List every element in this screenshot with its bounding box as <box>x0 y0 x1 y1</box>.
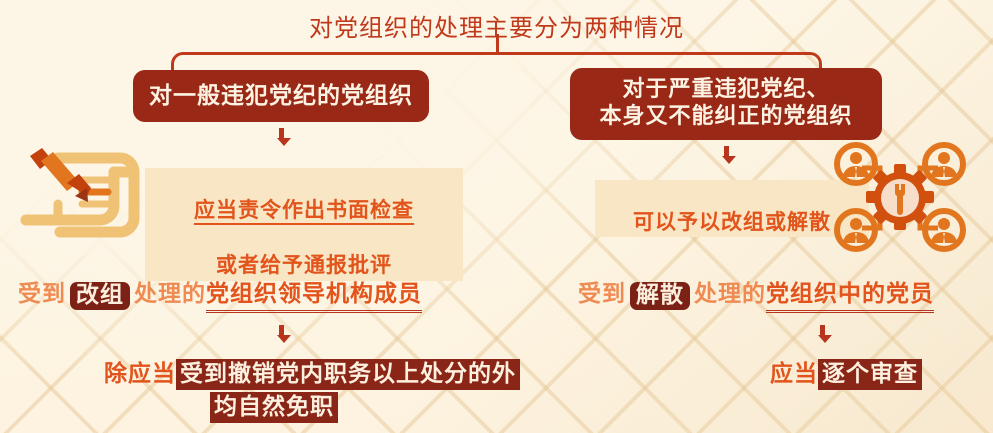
subject-left-middle: 处理的 <box>134 281 206 307</box>
subject-right-badge: 解散 <box>630 282 690 310</box>
result-left-emphasis-line2: 均自然免职 <box>210 392 338 423</box>
measure-text-left: 应当责令作出书面检查 或者给予通报批评 <box>145 168 463 281</box>
condition-box-right: 对于严重违犯党纪、 本身又不能纠正的党组织 <box>570 68 882 140</box>
subject-row-left: 受到改组处理的党组织领导机构成员 <box>18 274 422 309</box>
arrow-down-right-2-icon <box>818 325 827 343</box>
result-row-right: 应当逐个审查 <box>770 358 922 391</box>
infographic-canvas: 对党组织的处理主要分为两种情况 对一般违犯党纪的党组织 对于严重违犯党纪、 本身… <box>0 0 993 433</box>
subject-right-middle: 处理的 <box>694 281 766 307</box>
subject-row-right: 受到解散处理的党组织中的党员 <box>578 274 934 309</box>
arrow-down-left-2-icon <box>277 325 286 343</box>
measure-text-left-line1: 应当责令作出书面检查 <box>194 198 414 225</box>
scroll-pencil-icon <box>14 142 146 248</box>
measure-text-right-line1: 可以予以改组或解散 <box>633 210 831 234</box>
arrow-down-left-1-icon <box>277 128 286 146</box>
result-right-emphasis-line1: 逐个审查 <box>818 359 922 390</box>
gear-people-network-icon <box>832 142 968 252</box>
content-layer: 对党组织的处理主要分为两种情况 对一般违犯党纪的党组织 对于严重违犯党纪、 本身… <box>0 0 993 433</box>
subject-left-target: 党组织领导机构成员 <box>206 281 422 313</box>
measure-text-right: 可以予以改组或解散 <box>595 180 869 237</box>
result-left-prefix: 除应当 <box>104 361 176 387</box>
condition-box-right-label: 对于严重违犯党纪、 本身又不能纠正的党组织 <box>599 77 852 131</box>
subject-left-badge: 改组 <box>70 282 130 310</box>
bracket-stem <box>496 34 499 54</box>
subject-right-target: 党组织中的党员 <box>766 281 934 313</box>
subject-right-prefix: 受到 <box>578 281 626 307</box>
arrow-down-right-1-icon <box>722 146 731 164</box>
condition-box-left: 对一般违犯党纪的党组织 <box>133 70 429 122</box>
result-row-left: 除应当受到撤销党内职务以上处分的外 均自然免职 <box>104 358 444 425</box>
condition-box-left-label: 对一般违犯党纪的党组织 <box>149 82 413 110</box>
subject-left-prefix: 受到 <box>18 281 66 307</box>
result-left-emphasis-line1: 受到撤销党内职务以上处分的外 <box>176 359 520 390</box>
result-right-prefix: 应当 <box>770 361 818 387</box>
